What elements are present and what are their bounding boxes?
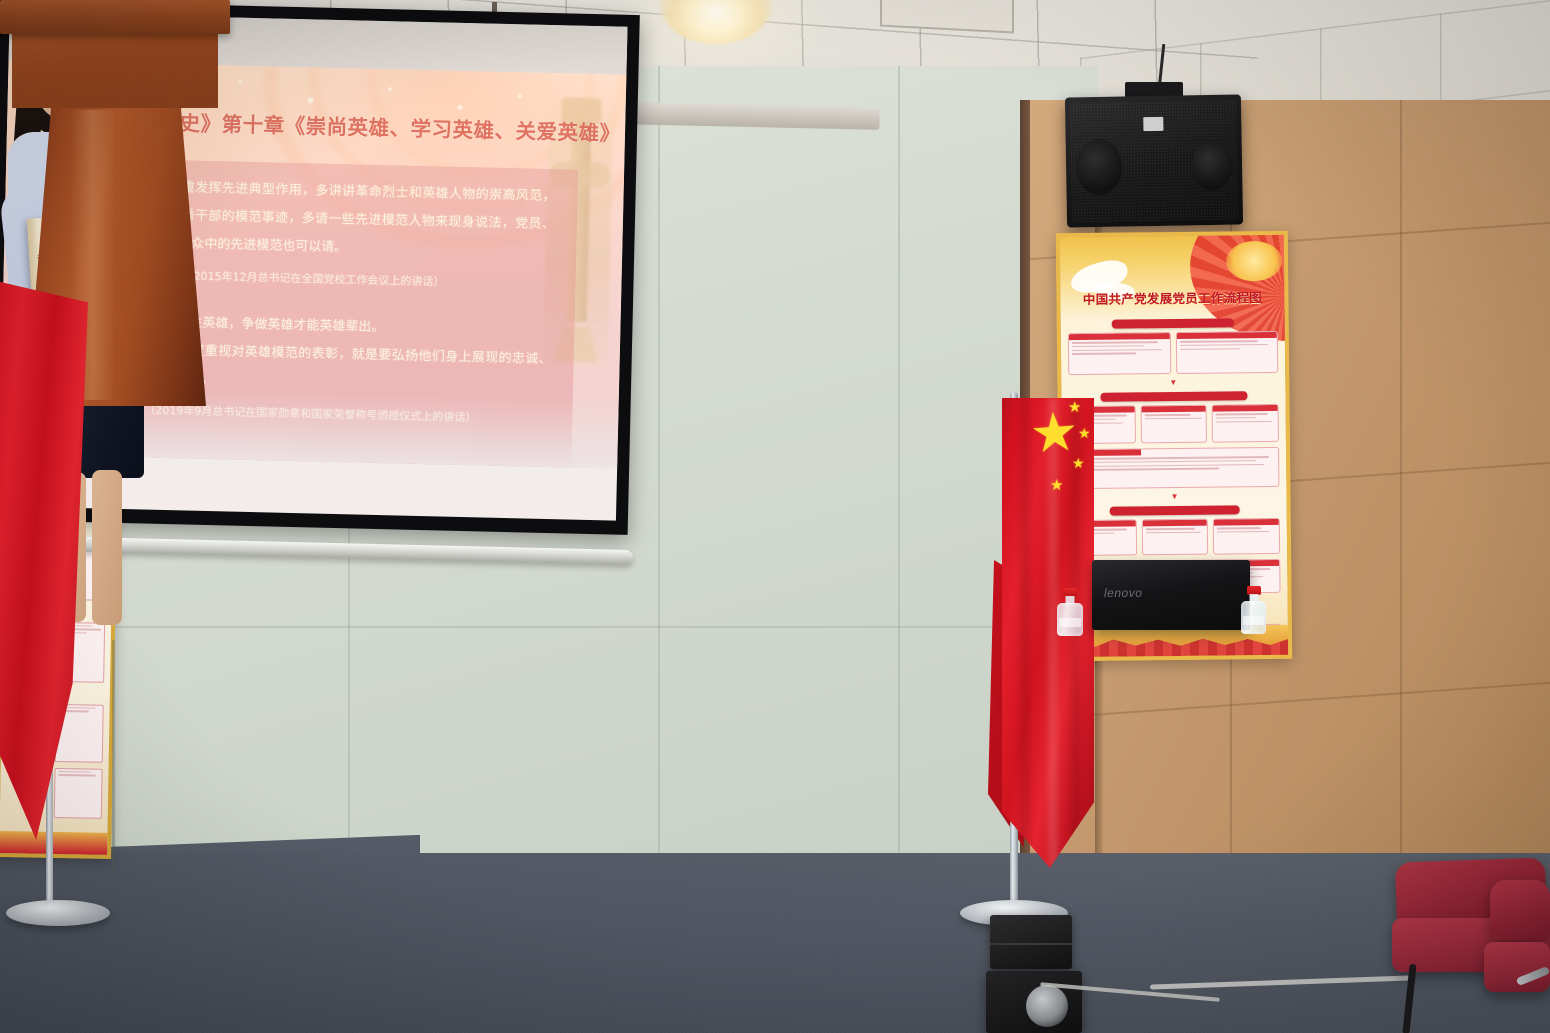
wall-speaker-right	[1065, 94, 1243, 227]
laptop-lenovo[interactable]: lenovo	[1092, 560, 1250, 630]
poster-section-header-1	[1112, 318, 1234, 328]
sun-core-graphic	[1226, 241, 1282, 282]
flagpole-base-left	[6, 900, 110, 926]
red-chair-2	[1490, 880, 1550, 1033]
subwoofer-port-icon	[1026, 985, 1068, 1027]
water-bottle-left[interactable]	[1057, 588, 1083, 636]
chair-backrest	[1490, 880, 1550, 940]
podium-desktop	[0, 0, 230, 34]
poster-section-header-3	[1110, 505, 1240, 515]
leg-right	[92, 470, 122, 625]
speaker-badge-icon	[1143, 117, 1163, 131]
poster-section-header-2	[1100, 391, 1247, 402]
meeting-room-photo: ZL-OIA	[0, 0, 1550, 1033]
chair-seat	[1484, 942, 1550, 992]
screen-pull-cord	[112, 640, 115, 870]
flag-star-small-3: ★	[1072, 456, 1085, 470]
water-bottle-right[interactable]	[1241, 586, 1266, 634]
flag-star-small-2: ★	[1078, 426, 1091, 440]
floor-speaker-stack	[986, 915, 1076, 1033]
flag-star-small-4: ★	[1050, 478, 1063, 493]
poster-left-footer-band	[0, 831, 107, 855]
flag-star-small-1: ★	[1068, 400, 1081, 415]
carpet-floor	[0, 853, 1550, 1033]
chair-leg	[1402, 964, 1416, 1033]
speaker-amplifier-unit	[990, 915, 1072, 969]
podium-front-panel	[12, 32, 218, 108]
poster-title: 中国共产党发展党员工作流程图	[1060, 287, 1284, 308]
laptop-brand-label: lenovo	[1104, 586, 1142, 600]
